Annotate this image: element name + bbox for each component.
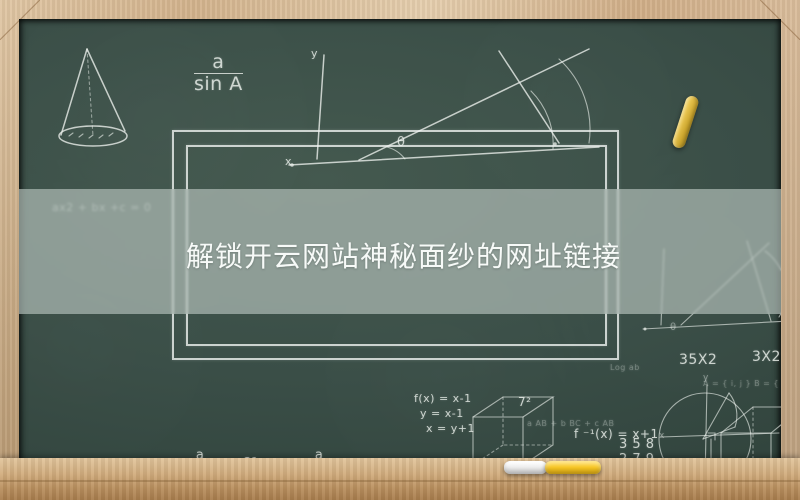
- law-of-sines-numerator: a: [194, 53, 243, 73]
- vector-sets-expression: A = { i, j } B = { i, j } I = { i, j }: [703, 379, 781, 388]
- page-title: 解锁开云网站神秘面纱的网址链接: [186, 243, 621, 271]
- function-line-2: y = x-1: [420, 407, 475, 422]
- log-ab-expression: Log ab: [610, 363, 640, 372]
- yellow-chalk-piece-icon: [545, 461, 601, 474]
- multiplication-3x2: 3X2: [752, 349, 781, 365]
- seven-squared: 7²: [518, 395, 531, 409]
- function-equations: f(x) = x-1 y = x-1 x = y+1: [414, 392, 475, 437]
- multiplication-35x2: 35X2: [679, 352, 717, 368]
- law-of-sines-formula: a sin A: [194, 53, 243, 95]
- x-axis-label-2: x: [659, 431, 665, 441]
- function-line-1: f(x) = x-1: [414, 392, 475, 407]
- function-line-3: x = y+1: [426, 422, 475, 437]
- wooden-chalk-ledge: [0, 458, 800, 500]
- ledge-seam-line: [0, 480, 800, 482]
- theta-angle-label-right: θ: [670, 322, 677, 333]
- yellow-chalk-stick-icon: [671, 94, 700, 149]
- y-axis-label-2: y: [703, 373, 709, 383]
- law-of-sines-denominator: sin A: [194, 73, 243, 95]
- y-axis-label: y: [311, 47, 318, 60]
- chalkboard-surface: a sin A y x θ ax2 + bx +c = 0: [19, 19, 781, 477]
- chalkboard-banner: a sin A y x θ ax2 + bx +c = 0: [0, 0, 800, 500]
- addend-one: 3 5 8: [619, 437, 655, 452]
- white-chalk-piece-icon: [504, 461, 547, 474]
- title-overlay-band: 解锁开云网站神秘面纱的网址链接: [19, 189, 781, 314]
